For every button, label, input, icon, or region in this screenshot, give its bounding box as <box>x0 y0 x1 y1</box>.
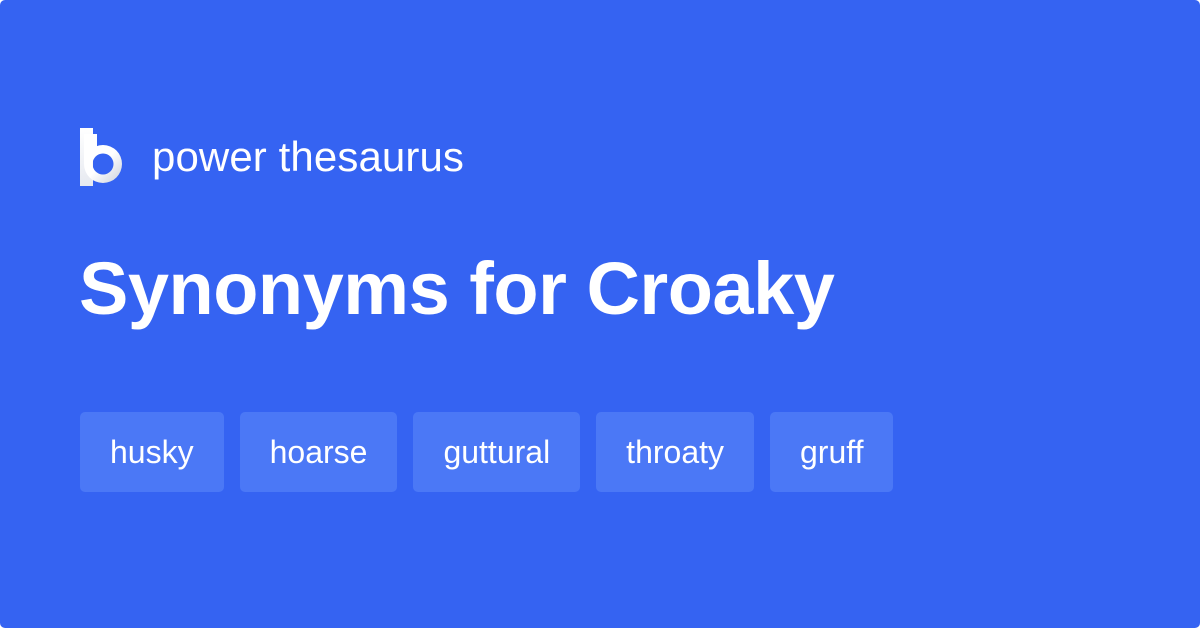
synonym-chip[interactable]: throaty <box>596 412 754 492</box>
synonym-chip-list: husky hoarse guttural throaty gruff <box>80 412 893 492</box>
page-title: Synonyms for Croaky <box>79 248 834 329</box>
synonym-chip[interactable]: hoarse <box>240 412 398 492</box>
synonym-chip[interactable]: guttural <box>413 412 580 492</box>
og-share-card: power thesaurus Synonyms for Croaky husk… <box>0 0 1200 628</box>
brand-name: power thesaurus <box>152 136 464 178</box>
synonym-chip[interactable]: gruff <box>770 412 893 492</box>
power-thesaurus-b-logo-icon <box>80 128 124 186</box>
brand-lockup[interactable]: power thesaurus <box>80 126 464 188</box>
synonym-chip[interactable]: husky <box>80 412 224 492</box>
